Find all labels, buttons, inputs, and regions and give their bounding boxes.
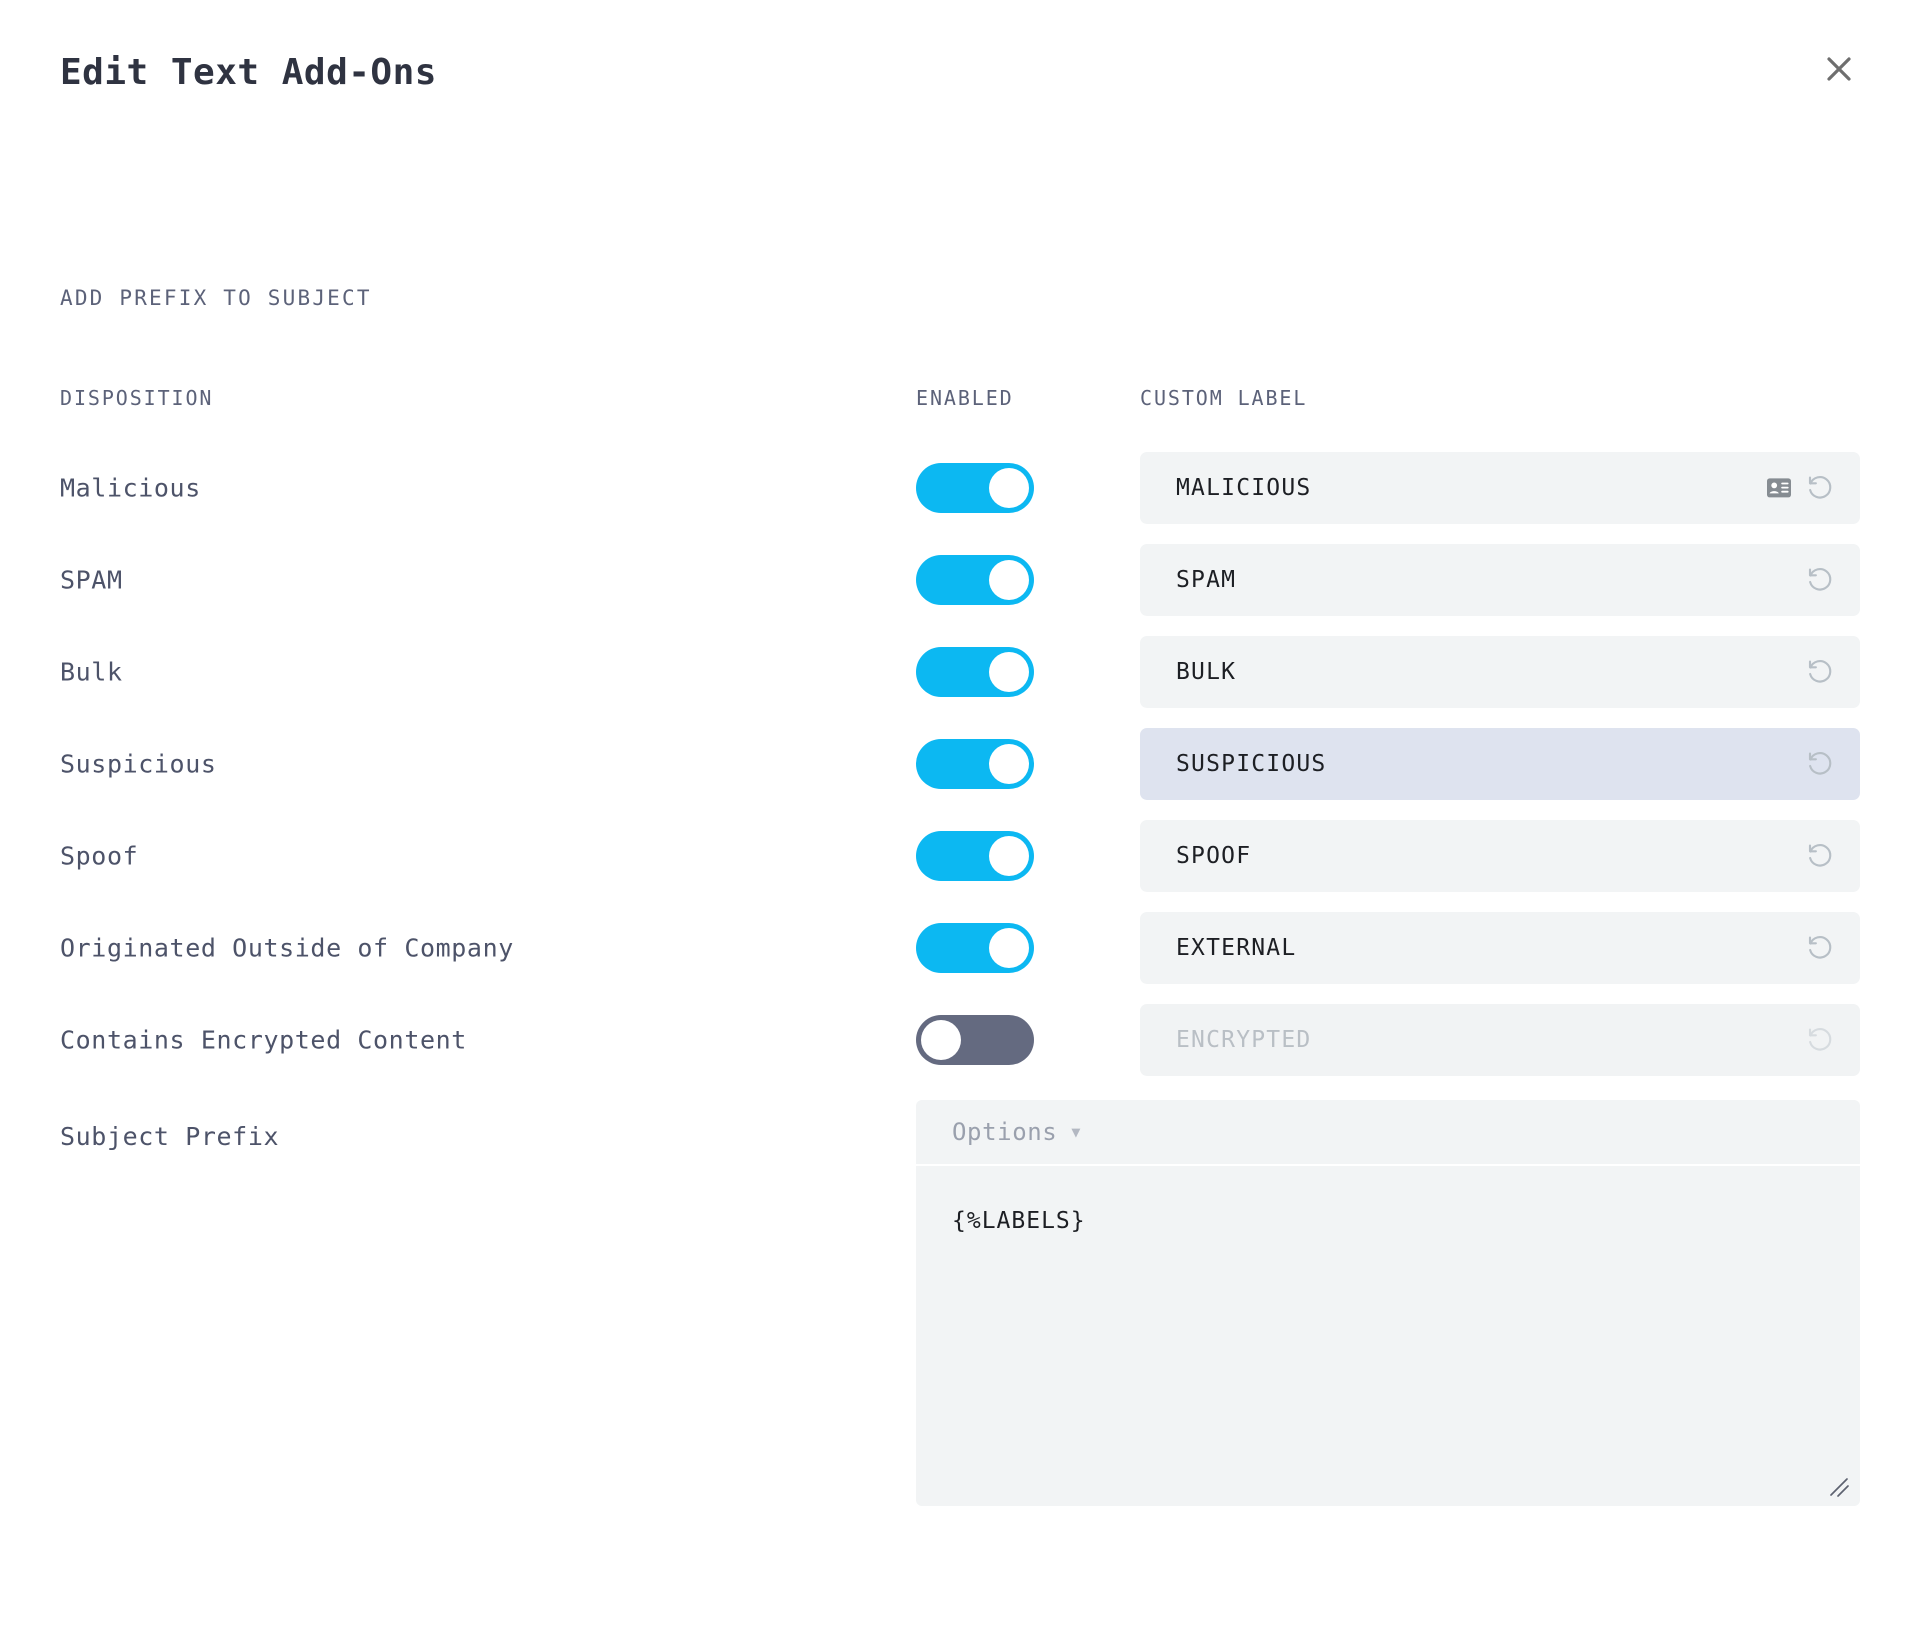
custom-label-value-spam: SPAM [1176,567,1806,593]
subject-prefix-editor: Options ▼ {%LABELS} [916,1100,1860,1506]
contact-card-icon[interactable] [1766,477,1792,499]
enabled-toggle-spoof[interactable] [916,831,1034,881]
enabled-toggle-malicious[interactable] [916,463,1034,513]
field-icon-group [1766,473,1836,503]
custom-label-value-malicious: MALICIOUS [1176,475,1766,501]
reset-icon [1806,1025,1836,1055]
section-heading: ADD PREFIX TO SUBJECT [60,286,372,310]
field-icon-group [1806,1025,1836,1055]
field-icon-group [1806,565,1836,595]
custom-label-field-bulk[interactable]: BULK [1140,636,1860,708]
field-icon-group [1806,749,1836,779]
disposition-label-contains-encrypted-content: Contains Encrypted Content [60,1026,467,1055]
custom-label-value-originated-outside-of-company: EXTERNAL [1176,935,1806,961]
disposition-label-originated-outside-of-company: Originated Outside of Company [60,934,514,963]
dispositions-table: DISPOSITION ENABLED CUSTOM LABEL Malicio… [60,386,1860,1086]
disposition-label-malicious: Malicious [60,474,201,503]
table-row: BulkBULK [60,626,1860,718]
toggle-knob [989,836,1029,876]
custom-label-value-spoof: SPOOF [1176,843,1806,869]
custom-label-field-malicious[interactable]: MALICIOUS [1140,452,1860,524]
disposition-label-spoof: Spoof [60,842,138,871]
table-row: SuspiciousSUSPICIOUS [60,718,1860,810]
dialog-header: Edit Text Add-Ons [60,52,1860,112]
disposition-label-spam: SPAM [60,566,123,595]
enabled-toggle-suspicious[interactable] [916,739,1034,789]
field-icon-group [1806,657,1836,687]
column-header-disposition: DISPOSITION [60,386,213,410]
custom-label-value-bulk: BULK [1176,659,1806,685]
enabled-toggle-bulk[interactable] [916,647,1034,697]
disposition-label-suspicious: Suspicious [60,750,217,779]
toggle-knob [989,928,1029,968]
subject-prefix-textarea-value: {%LABELS} [952,1208,1860,1234]
reset-icon[interactable] [1806,565,1836,595]
subject-prefix-textarea[interactable]: {%LABELS} [916,1166,1860,1506]
toggle-knob [989,652,1029,692]
toggle-knob [921,1020,961,1060]
enabled-toggle-originated-outside-of-company[interactable] [916,923,1034,973]
reset-icon[interactable] [1806,749,1836,779]
toggle-knob [989,560,1029,600]
toggle-knob [989,468,1029,508]
edit-text-addons-dialog: Edit Text Add-Ons ADD PREFIX TO SUBJECT … [0,0,1908,1650]
reset-icon[interactable] [1806,473,1836,503]
table-row: MaliciousMALICIOUS [60,442,1860,534]
table-row: SpoofSPOOF [60,810,1860,902]
table-row: Originated Outside of CompanyEXTERNAL [60,902,1860,994]
resize-grip-icon[interactable] [1828,1476,1850,1498]
custom-label-value-contains-encrypted-content: ENCRYPTED [1176,1027,1806,1053]
page-title: Edit Text Add-Ons [60,52,1860,93]
disposition-label-bulk: Bulk [60,658,123,687]
table-header-row: DISPOSITION ENABLED CUSTOM LABEL [60,386,1860,442]
close-icon [1824,54,1854,84]
custom-label-value-suspicious: SUSPICIOUS [1176,751,1806,777]
custom-label-field-spam[interactable]: SPAM [1140,544,1860,616]
options-dropdown-label: Options [952,1118,1057,1146]
close-button[interactable] [1816,46,1862,92]
table-body: MaliciousMALICIOUSSPAMSPAMBulkBULKSuspic… [60,442,1860,1086]
options-dropdown[interactable]: Options ▼ [916,1100,1860,1166]
custom-label-field-spoof[interactable]: SPOOF [1140,820,1860,892]
toggle-knob [989,744,1029,784]
reset-icon[interactable] [1806,841,1836,871]
table-row: Contains Encrypted ContentENCRYPTED [60,994,1860,1086]
field-icon-group [1806,933,1836,963]
table-row: SPAMSPAM [60,534,1860,626]
custom-label-field-originated-outside-of-company[interactable]: EXTERNAL [1140,912,1860,984]
reset-icon[interactable] [1806,933,1836,963]
custom-label-field-contains-encrypted-content: ENCRYPTED [1140,1004,1860,1076]
enabled-toggle-spam[interactable] [916,555,1034,605]
column-header-custom-label: CUSTOM LABEL [1140,386,1307,410]
chevron-down-icon: ▼ [1071,1125,1080,1140]
column-header-enabled: ENABLED [916,386,1014,410]
field-icon-group [1806,841,1836,871]
enabled-toggle-contains-encrypted-content[interactable] [916,1015,1034,1065]
custom-label-field-suspicious[interactable]: SUSPICIOUS [1140,728,1860,800]
reset-icon[interactable] [1806,657,1836,687]
subject-prefix-label: Subject Prefix [60,1122,279,1151]
